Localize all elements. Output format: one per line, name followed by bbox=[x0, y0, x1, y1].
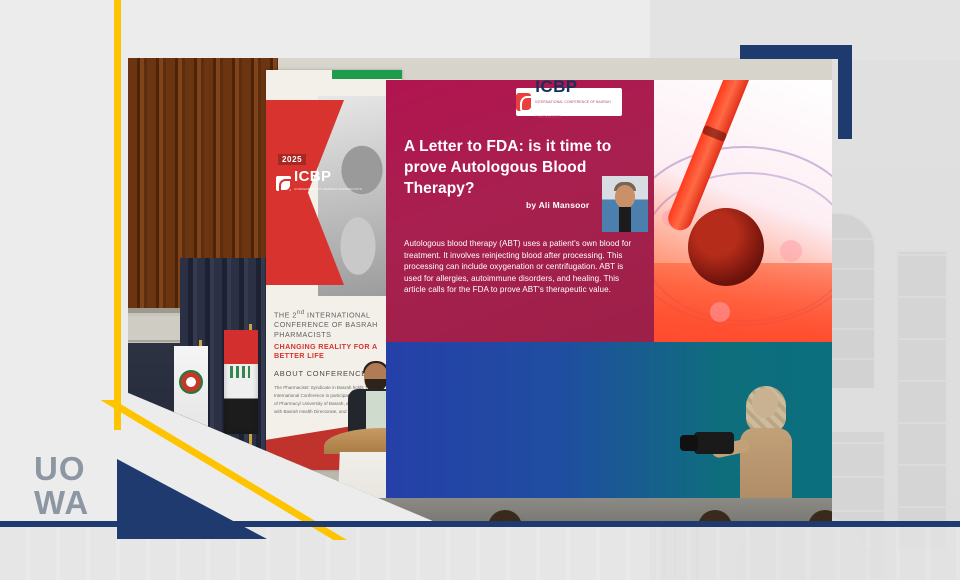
blood-drop-icon bbox=[688, 208, 764, 286]
graphic-bubble-3 bbox=[710, 302, 730, 322]
banner-logo-tagline: CONFERENCE OF BASRAH PHARMACISTS bbox=[294, 183, 362, 196]
uowa-logo-line1: UO bbox=[34, 452, 89, 486]
conference-photo: 2025 ICBP CONFERENCE OF BASRAH PHARMACIS… bbox=[128, 58, 832, 523]
photographer-head bbox=[752, 388, 778, 418]
icbp-mark-icon bbox=[516, 93, 531, 111]
icbp-mark-icon bbox=[276, 176, 291, 191]
portrait-shirt bbox=[619, 207, 631, 232]
iraq-flag bbox=[238, 324, 264, 440]
banner-icbp-logo: ICBP CONFERENCE OF BASRAH PHARMACISTS bbox=[276, 170, 362, 196]
uowa-logo: UO WA bbox=[34, 452, 89, 520]
navy-horizontal-rule bbox=[0, 521, 960, 527]
navy-triangle-accent bbox=[117, 459, 267, 539]
uowa-logo-line2: WA bbox=[34, 486, 89, 520]
graphic-bubble-2 bbox=[780, 240, 802, 262]
camera-icon bbox=[694, 432, 734, 454]
navy-corner-bracket-right bbox=[838, 45, 852, 139]
flag-cloth bbox=[224, 330, 258, 434]
banner-logo-name: ICBP CONFERENCE OF BASRAH PHARMACISTS bbox=[294, 170, 362, 196]
portrait-head bbox=[615, 185, 635, 208]
slide-byline: by Ali Mansoor bbox=[526, 200, 589, 210]
presentation-slide: ICBP INTERNATIONAL CONFERENCE OF BASRAH … bbox=[386, 80, 832, 345]
slide-blood-graphic bbox=[654, 80, 832, 345]
slide-icbp-logo: ICBP INTERNATIONAL CONFERENCE OF BASRAH … bbox=[516, 88, 622, 116]
slide-abstract: Autologous blood therapy (ABT) uses a pa… bbox=[404, 238, 642, 296]
banner-green-bar bbox=[332, 70, 402, 79]
banner-tagline: CHANGING REALITY FOR A BETTER LIFE bbox=[274, 342, 394, 360]
slide-logo-tagline: INTERNATIONAL CONFERENCE OF BASRAH PHARM… bbox=[535, 95, 622, 125]
flag-cloth bbox=[174, 346, 208, 450]
slide-logo-name: ICBP INTERNATIONAL CONFERENCE OF BASRAH … bbox=[535, 80, 622, 125]
banner-heading-2: CONFERENCE OF BASRAH PHARMACISTS bbox=[274, 320, 394, 340]
yellow-accent-bar bbox=[114, 0, 121, 430]
author-portrait bbox=[602, 176, 648, 232]
navy-corner-bracket-top bbox=[740, 45, 852, 59]
banner-heading-1: THE 2nd INTERNATIONAL bbox=[274, 308, 394, 320]
banner-year: 2025 bbox=[278, 154, 306, 165]
organization-flag bbox=[188, 340, 214, 456]
